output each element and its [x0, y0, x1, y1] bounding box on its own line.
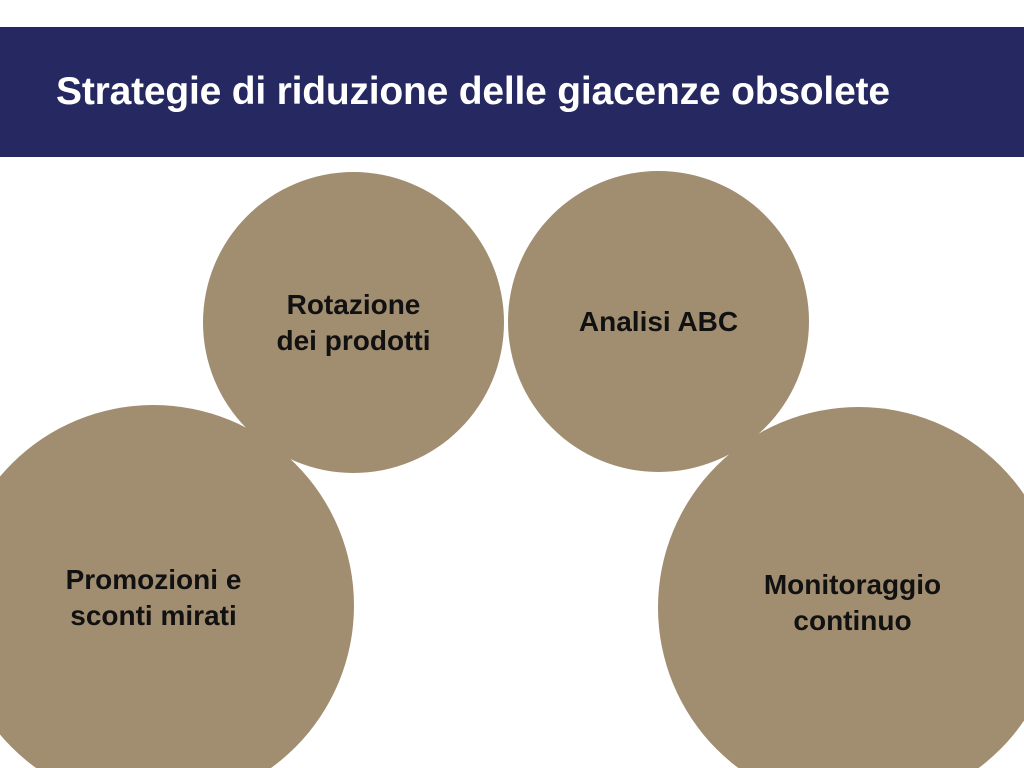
bubble-label-promozioni: Promozioni e sconti mirati	[48, 562, 260, 634]
bubble-label-monitoraggio: Monitoraggio continuo	[746, 567, 959, 639]
bubble-label-rotazione: Rotazione dei prodotti	[259, 287, 449, 359]
title-banner: Strategie di riduzione delle giacenze ob…	[0, 27, 1024, 157]
bubble-label-analisi-abc: Analisi ABC	[561, 304, 756, 340]
page-title: Strategie di riduzione delle giacenze ob…	[0, 71, 890, 114]
slide-canvas: Strategie di riduzione delle giacenze ob…	[0, 0, 1024, 768]
bubble-analisi-abc[interactable]: Analisi ABC	[508, 171, 809, 472]
